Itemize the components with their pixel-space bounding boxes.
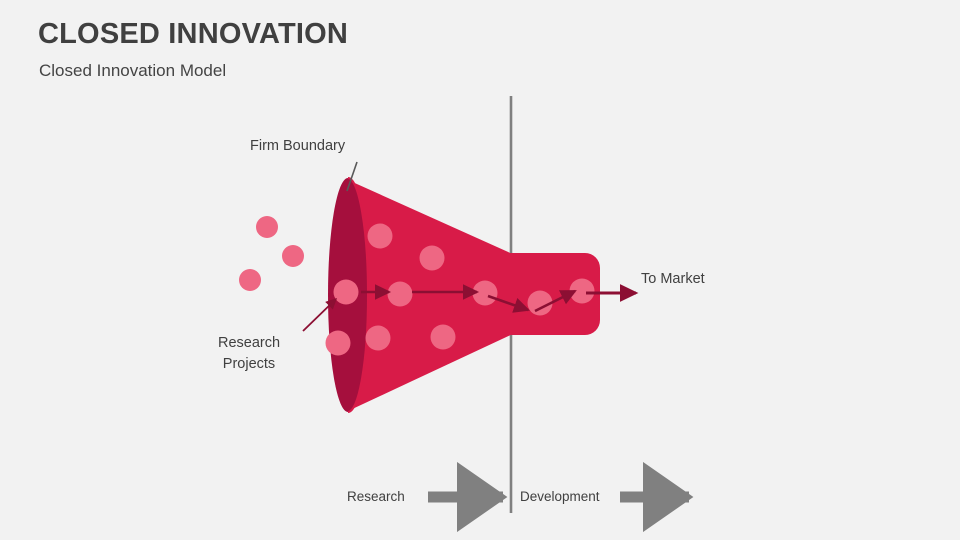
- project-dot: [388, 282, 413, 307]
- label-development-phase: Development: [520, 489, 600, 504]
- project-dot: [239, 269, 261, 291]
- closed-innovation-diagram: [0, 0, 960, 540]
- slide-canvas: CLOSED INNOVATION Closed Innovation Mode…: [0, 0, 960, 540]
- label-research-phase: Research: [347, 489, 405, 504]
- project-dot: [420, 246, 445, 271]
- label-research-projects: Research Projects: [212, 333, 286, 375]
- label-to-market: To Market: [641, 271, 705, 287]
- project-dot: [256, 216, 278, 238]
- project-dot: [334, 280, 359, 305]
- outer-project-dots: [239, 216, 304, 291]
- project-dot: [366, 326, 391, 351]
- label-firm-boundary: Firm Boundary: [250, 138, 345, 154]
- project-dot: [326, 331, 351, 356]
- project-dot: [431, 325, 456, 350]
- project-dot: [368, 224, 393, 249]
- project-dot: [282, 245, 304, 267]
